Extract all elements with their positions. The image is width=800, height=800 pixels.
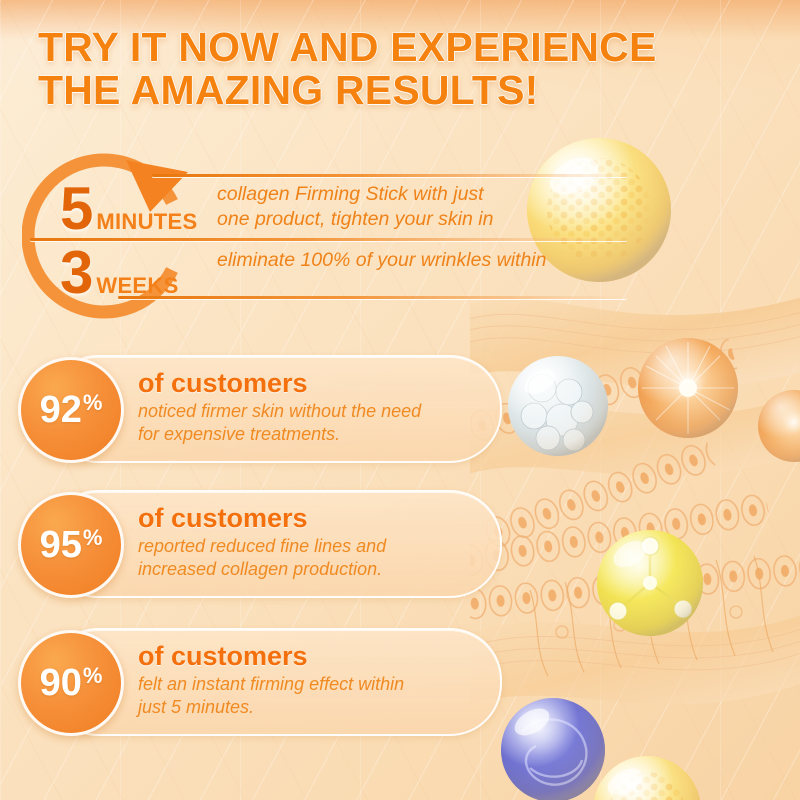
page-title: TRY IT NOW AND EXPERIENCE THE AMAZING RE… (38, 26, 758, 112)
headline-line-1: TRY IT NOW AND EXPERIENCE (38, 26, 758, 69)
stat-percent-value-92: 92 (40, 391, 82, 429)
percent-symbol-icon: % (83, 392, 103, 414)
poster-canvas: TRY IT NOW AND EXPERIENCE THE AMAZING RE… (0, 0, 800, 800)
stat-headline-90: of customers (138, 642, 488, 670)
stat-percent-value-90: 90 (40, 664, 82, 702)
timing-unit-minutes: MINUTES (96, 209, 197, 235)
headline-line-2: THE AMAZING RESULTS! (38, 69, 758, 112)
stat-detail-92-line-2: for expensive treatments. (138, 423, 488, 446)
cycle-text-minutes-line-2: one product, tighten your skin in (217, 207, 493, 232)
stat-card-92: 92% of customers noticed firmer skin wit… (18, 355, 498, 459)
percent-symbol-icon: % (83, 665, 103, 687)
stat-detail-90: felt an instant firming effect within ju… (138, 673, 488, 718)
stat-detail-92-line-1: noticed firmer skin without the need (138, 400, 488, 423)
stat-body-90: of customers felt an instant firming eff… (138, 642, 488, 719)
stat-detail-95: reported reduced fine lines and increase… (138, 535, 488, 580)
stat-percent-value-95: 95 (40, 526, 82, 564)
stat-detail-95-line-1: reported reduced fine lines and (138, 535, 488, 558)
stat-body-92: of customers noticed firmer skin without… (138, 369, 488, 446)
timing-cycle-block: 5 MINUTES 3 WEEKS collagen Firming Stick… (22, 150, 642, 320)
stat-headline-95: of customers (138, 504, 488, 532)
stat-card-90: 90% of customers felt an instant firming… (18, 628, 498, 732)
cycle-text-weeks: eliminate 100% of your wrinkles within (217, 248, 546, 273)
timing-number-5: 5 (60, 182, 93, 236)
timing-value-minutes: 5 MINUTES (60, 182, 197, 236)
stat-detail-92: noticed firmer skin without the need for… (138, 400, 488, 445)
divider-line-bottom (118, 296, 627, 299)
stat-percent-badge-95: 95% (18, 492, 124, 598)
stat-detail-90-line-2: just 5 minutes. (138, 696, 488, 719)
percent-symbol-icon: % (83, 527, 103, 549)
timing-unit-weeks: WEEKS (96, 273, 178, 299)
stat-body-95: of customers reported reduced fine lines… (138, 504, 488, 581)
timing-value-weeks: 3 WEEKS (60, 246, 179, 300)
stat-detail-90-line-1: felt an instant firming effect within (138, 673, 488, 696)
timing-number-3: 3 (60, 246, 93, 300)
stat-percent-badge-92: 92% (18, 357, 124, 463)
stat-headline-92: of customers (138, 369, 488, 397)
stat-percent-badge-90: 90% (18, 630, 124, 736)
cycle-text-minutes: collagen Firming Stick with just one pro… (217, 182, 493, 232)
divider-line-middle (30, 238, 627, 241)
divider-line-top (152, 174, 627, 177)
stat-detail-95-line-2: increased collagen production. (138, 558, 488, 581)
stat-card-95: 95% of customers reported reduced fine l… (18, 490, 498, 594)
cycle-text-minutes-line-1: collagen Firming Stick with just (217, 182, 493, 207)
cycle-text-weeks-line-1: eliminate 100% of your wrinkles within (217, 248, 546, 273)
